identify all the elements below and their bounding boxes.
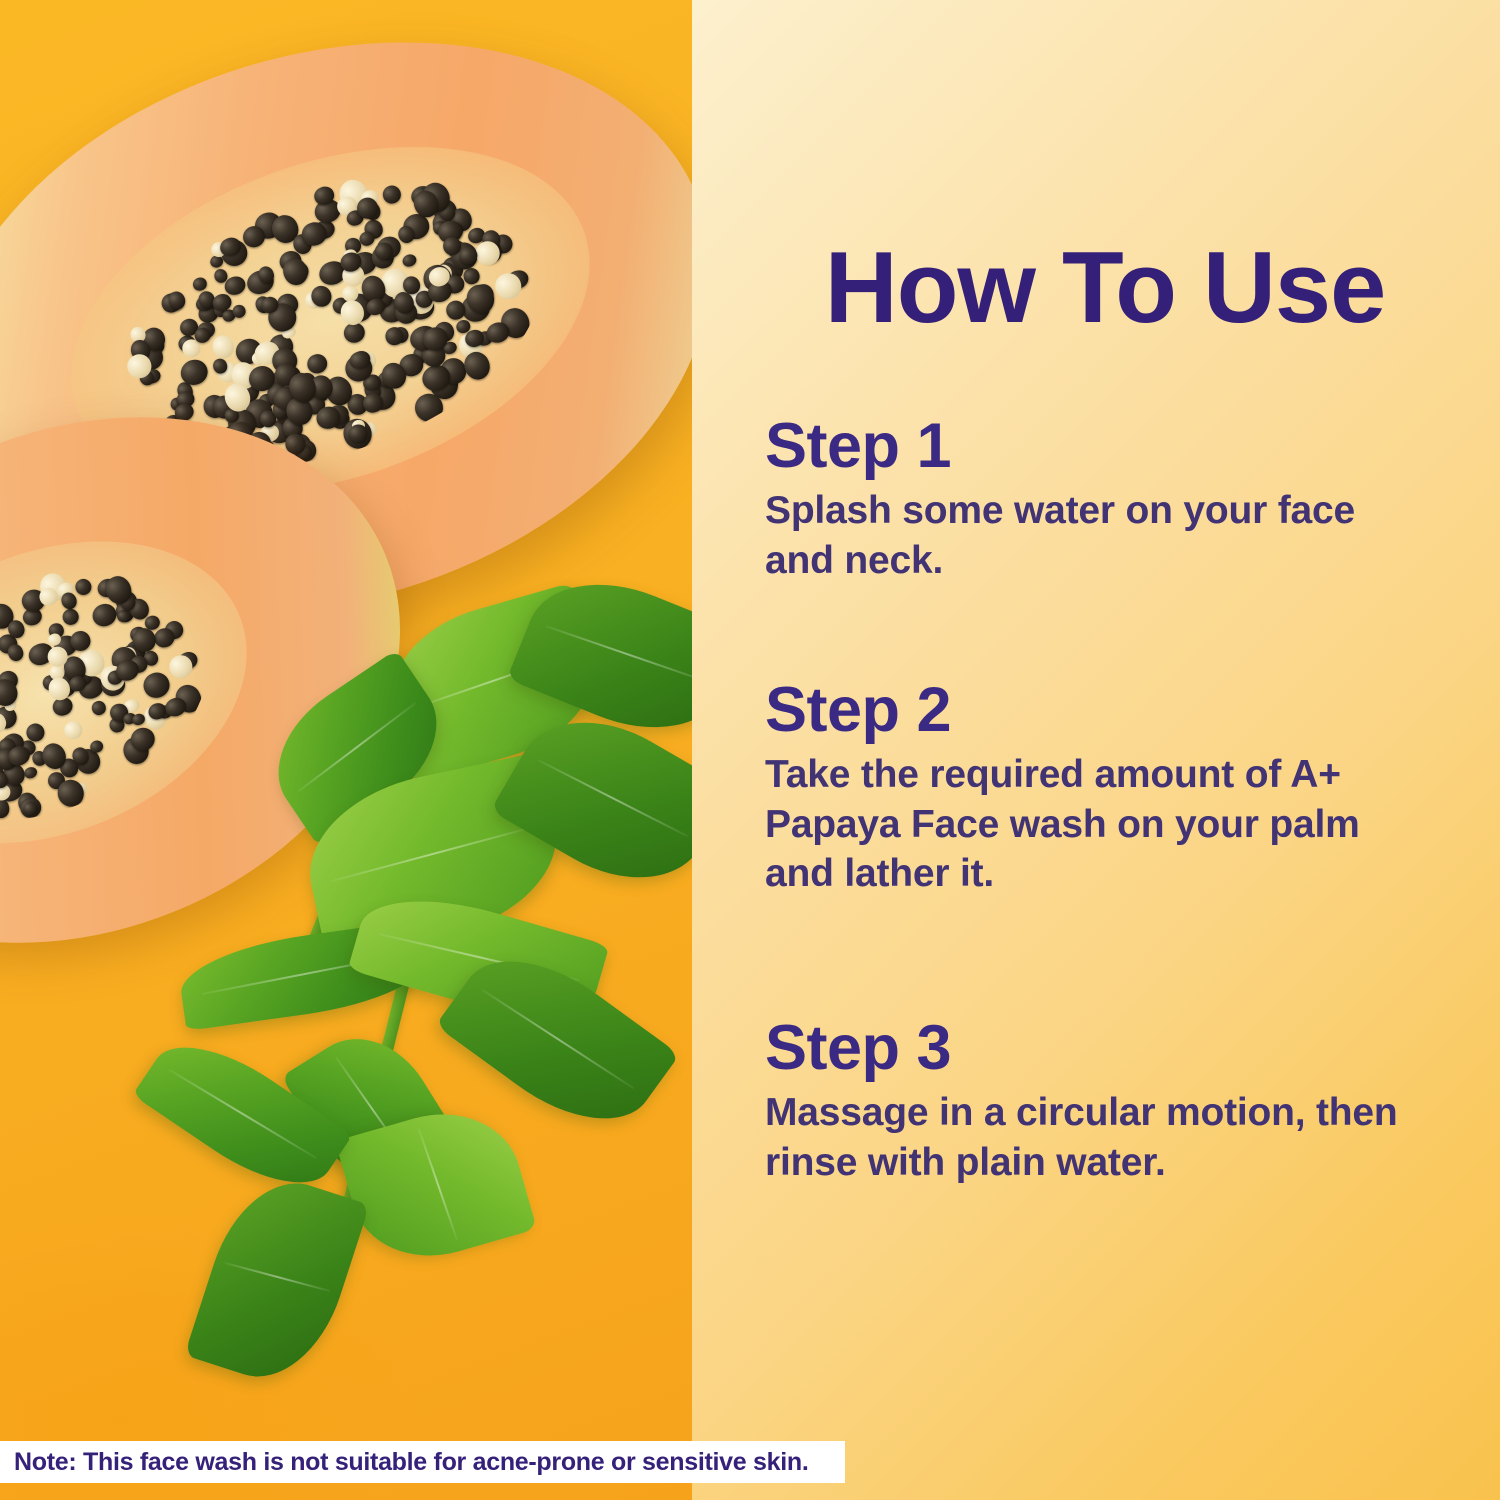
leaf-sprig: [120, 580, 692, 1400]
note-bar: Note: This face wash is not suitable for…: [0, 1441, 845, 1483]
step-3-title: Step 3: [765, 1014, 1425, 1082]
leaf-vein: [331, 826, 534, 882]
infographic-page: How To Use Step 1 Splash some water on y…: [0, 0, 1500, 1500]
step-3-block: Step 3 Massage in a circular motion, the…: [765, 1014, 1425, 1187]
leaf-vein: [297, 702, 416, 792]
step-2-body: Take the required amount of A+ Papaya Fa…: [765, 750, 1425, 899]
step-1-title: Step 1: [765, 412, 1425, 480]
leaf-vein: [482, 989, 635, 1089]
leaf-vein: [225, 1262, 331, 1292]
leaf-vein: [418, 1128, 458, 1240]
step-3-body: Massage in a circular motion, then rinse…: [765, 1088, 1425, 1187]
papaya-seed: [62, 719, 85, 742]
papaya-seed: [90, 699, 108, 718]
step-1-body: Splash some water on your face and neck.: [765, 486, 1425, 585]
leaf-vein: [545, 625, 692, 683]
papaya-seed: [73, 576, 94, 597]
papaya-product-photo: [0, 0, 692, 1500]
step-2-title: Step 2: [765, 676, 1425, 744]
leaf-vein: [538, 759, 689, 837]
papaya-seed: [400, 253, 417, 269]
papaya-seed: [209, 333, 237, 362]
leaf-11: [132, 1020, 352, 1209]
papaya-seed: [60, 606, 81, 628]
step-2-block: Step 2 Take the required amount of A+ Pa…: [765, 676, 1425, 899]
page-title: How To Use: [755, 238, 1455, 339]
note-text: Note: This face wash is not suitable for…: [0, 1448, 808, 1477]
step-1-block: Step 1 Splash some water on your face an…: [765, 412, 1425, 585]
papaya-seed: [381, 184, 404, 207]
instructions-panel: How To Use Step 1 Splash some water on y…: [692, 0, 1500, 1500]
leaf-12: [184, 1165, 369, 1395]
